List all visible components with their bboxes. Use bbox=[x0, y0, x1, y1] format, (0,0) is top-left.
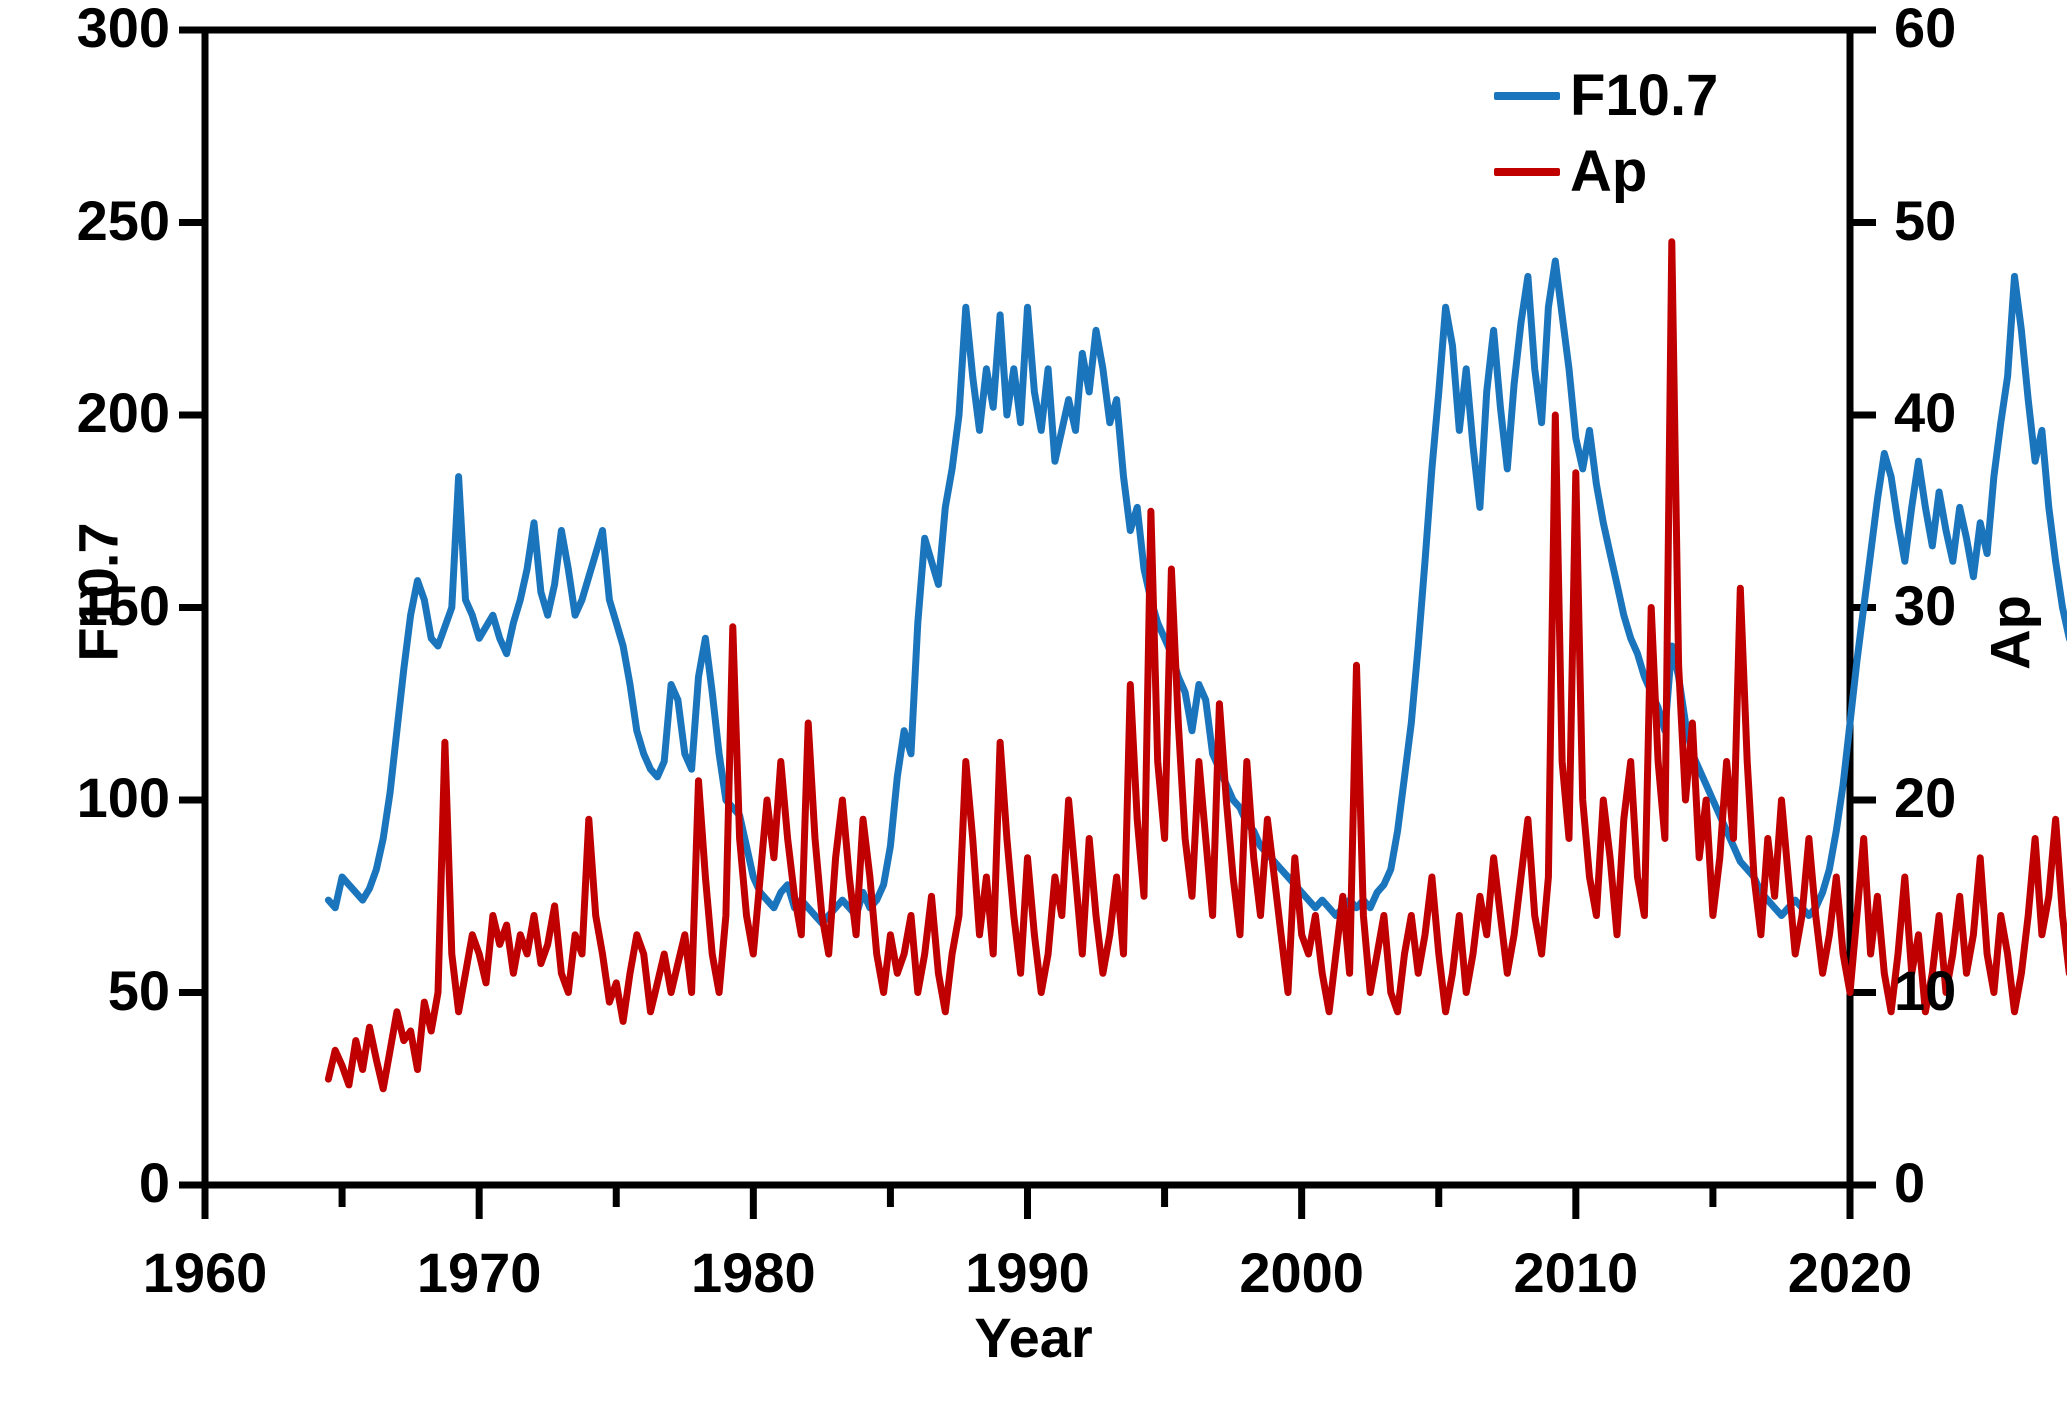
y-tick-label-left-100: 100 bbox=[0, 770, 170, 826]
y-tick-label-left-300: 300 bbox=[0, 0, 170, 56]
x-tick-label-1990: 1990 bbox=[898, 1245, 1158, 1301]
x-tick-label-1970: 1970 bbox=[349, 1245, 609, 1301]
y-tick-label-right-0: 0 bbox=[1894, 1155, 2064, 1211]
y-tick-label-left-200: 200 bbox=[0, 385, 170, 441]
x-axis-label: Year bbox=[0, 1305, 2067, 1370]
chart-legend: F10.7 Ap bbox=[1494, 58, 1844, 210]
y-tick-label-left-150: 150 bbox=[0, 578, 170, 634]
legend-swatch-ap bbox=[1494, 168, 1560, 176]
x-tick-label-2020: 2020 bbox=[1720, 1245, 1980, 1301]
x-tick-label-2010: 2010 bbox=[1446, 1245, 1706, 1301]
legend-item-f107: F10.7 bbox=[1494, 58, 1844, 134]
y-tick-label-right-10: 10 bbox=[1894, 963, 2064, 1019]
legend-swatch-f107 bbox=[1494, 92, 1560, 100]
y-tick-label-left-0: 0 bbox=[0, 1155, 170, 1211]
x-tick-label-1980: 1980 bbox=[623, 1245, 883, 1301]
plot-svg bbox=[0, 0, 2067, 1402]
x-tick-label-2000: 2000 bbox=[1172, 1245, 1432, 1301]
legend-label-ap: Ap bbox=[1570, 143, 1647, 201]
series-line-ap bbox=[328, 242, 2067, 1118]
y-tick-label-right-60: 60 bbox=[1894, 0, 2064, 56]
legend-label-f107: F10.7 bbox=[1570, 67, 1718, 125]
chart-figure: F10.7 Ap Year 05010015020025030001020304… bbox=[0, 0, 2067, 1402]
y-tick-label-left-250: 250 bbox=[0, 193, 170, 249]
y-tick-label-left-50: 50 bbox=[0, 963, 170, 1019]
series-group bbox=[328, 242, 2067, 1118]
x-tick-label-1960: 1960 bbox=[75, 1245, 335, 1301]
y-tick-label-right-40: 40 bbox=[1894, 385, 2064, 441]
y-tick-label-right-20: 20 bbox=[1894, 770, 2064, 826]
y-tick-label-right-30: 30 bbox=[1894, 578, 2064, 634]
legend-item-ap: Ap bbox=[1494, 134, 1844, 210]
y-tick-label-right-50: 50 bbox=[1894, 193, 2064, 249]
